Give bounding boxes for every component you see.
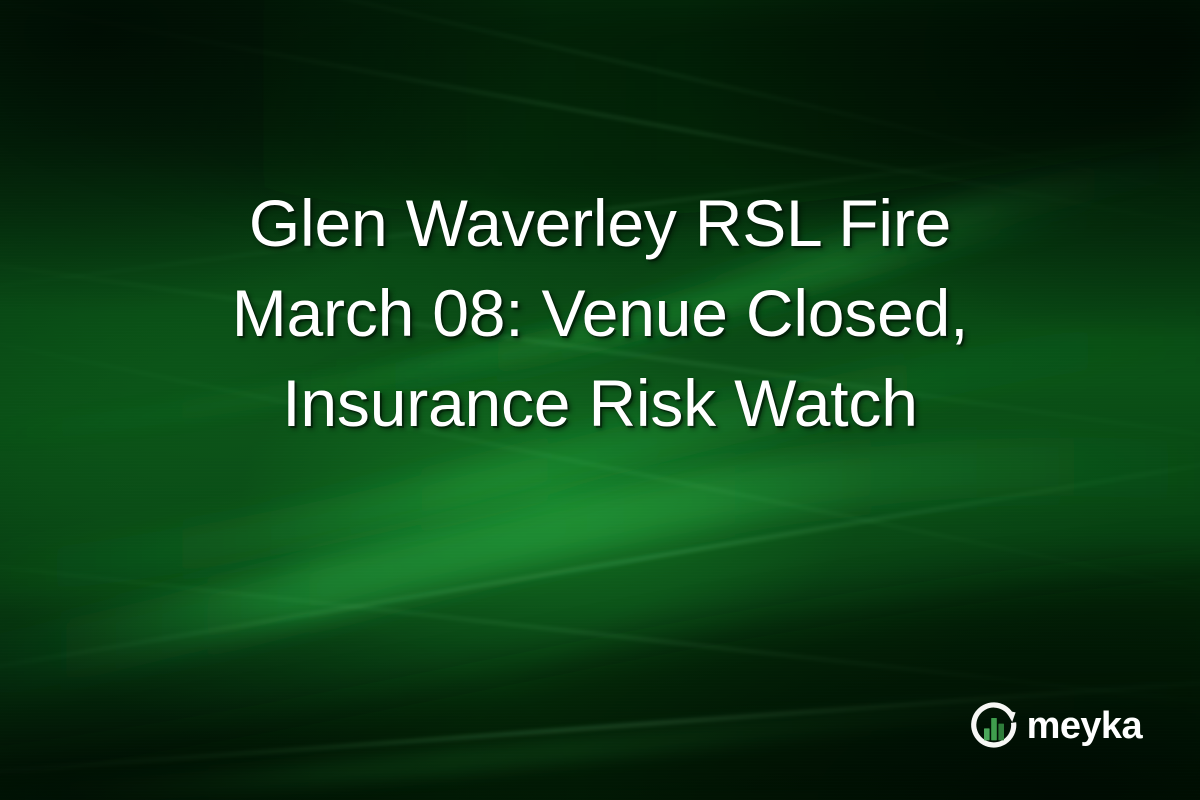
headline-line-1: Glen Waverley RSL Fire <box>70 178 1130 268</box>
meyka-wordmark: meyka <box>1027 707 1142 745</box>
headline-block: Glen Waverley RSL Fire March 08: Venue C… <box>0 178 1200 448</box>
meyka-circular-arrow-bar-chart-icon <box>969 700 1021 752</box>
promo-banner: Glen Waverley RSL Fire March 08: Venue C… <box>0 0 1200 800</box>
headline-line-2: March 08: Venue Closed, <box>70 268 1130 358</box>
headline-line-3: Insurance Risk Watch <box>70 358 1130 448</box>
meyka-logo[interactable]: meyka <box>969 700 1142 752</box>
